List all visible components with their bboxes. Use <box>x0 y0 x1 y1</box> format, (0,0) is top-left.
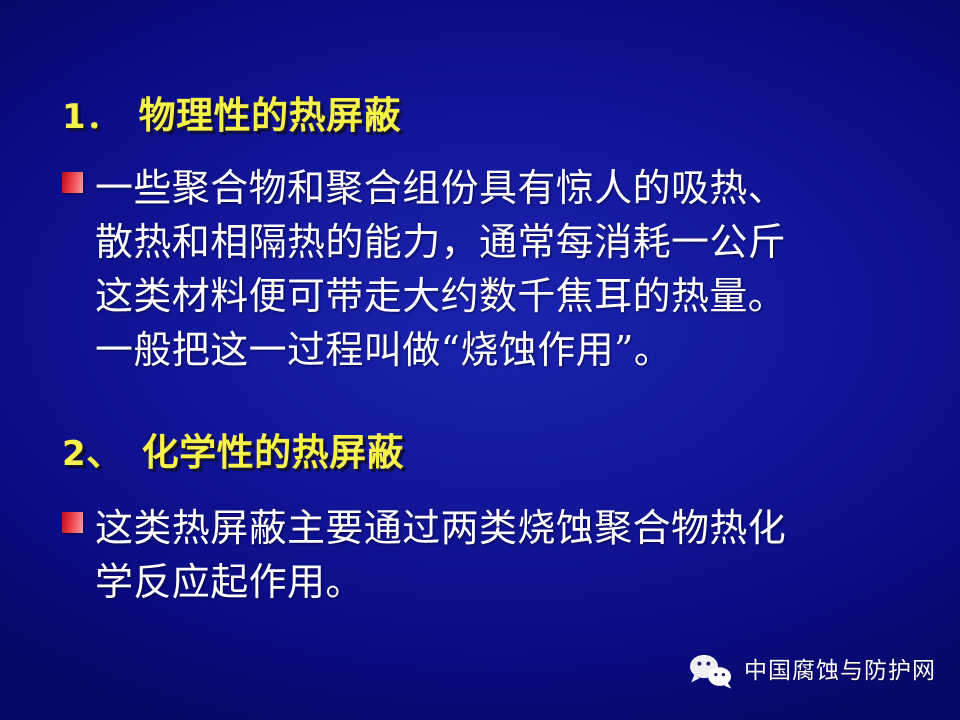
text-line: 一些聚合物和聚合组份具有惊人的吸热、 <box>95 161 942 215</box>
section-2-number: 2 <box>62 434 86 474</box>
section-2-separator: 、 <box>86 430 124 474</box>
section-1-heading: 1．物理性的热屏蔽 <box>62 97 401 134</box>
wechat-icon <box>688 652 734 690</box>
square-bullet-icon <box>62 512 83 533</box>
section-1-heading-text: 物理性的热屏蔽 <box>139 93 402 137</box>
section-1-bullet-lines: 一些聚合物和聚合组份具有惊人的吸热、 散热和相隔热的能力，通常每消耗一公斤 这类… <box>62 161 942 377</box>
text-line: 这类材料便可带走大约数千焦耳的热量。 <box>95 269 942 323</box>
section-2-bullet-lines: 这类热屏蔽主要通过两类烧蚀聚合物热化 学反应起作用。 <box>62 501 942 609</box>
section-1-number: 1 <box>62 97 86 137</box>
section-1-separator: ． <box>86 97 121 137</box>
text-line: 这类热屏蔽主要通过两类烧蚀聚合物热化 <box>95 501 942 555</box>
text-line: 散热和相隔热的能力，通常每消耗一公斤 <box>95 215 942 269</box>
text-line: 学反应起作用。 <box>95 555 942 609</box>
section-2-heading: 2、化学性的热屏蔽 <box>62 434 404 471</box>
text-line: 一般把这一过程叫做“烧蚀作用”。 <box>95 323 942 377</box>
section-2-bullet-block: 这类热屏蔽主要通过两类烧蚀聚合物热化 学反应起作用。 <box>62 501 942 609</box>
slide-canvas: 1．物理性的热屏蔽 一些聚合物和聚合组份具有惊人的吸热、 散热和相隔热的能力，通… <box>0 0 960 720</box>
watermark: 中国腐蚀与防护网 <box>688 652 936 690</box>
section-2-heading-text: 化学性的热屏蔽 <box>142 430 405 474</box>
watermark-label: 中国腐蚀与防护网 <box>744 660 936 683</box>
square-bullet-icon <box>62 172 83 193</box>
section-1-bullet-block: 一些聚合物和聚合组份具有惊人的吸热、 散热和相隔热的能力，通常每消耗一公斤 这类… <box>62 161 942 377</box>
